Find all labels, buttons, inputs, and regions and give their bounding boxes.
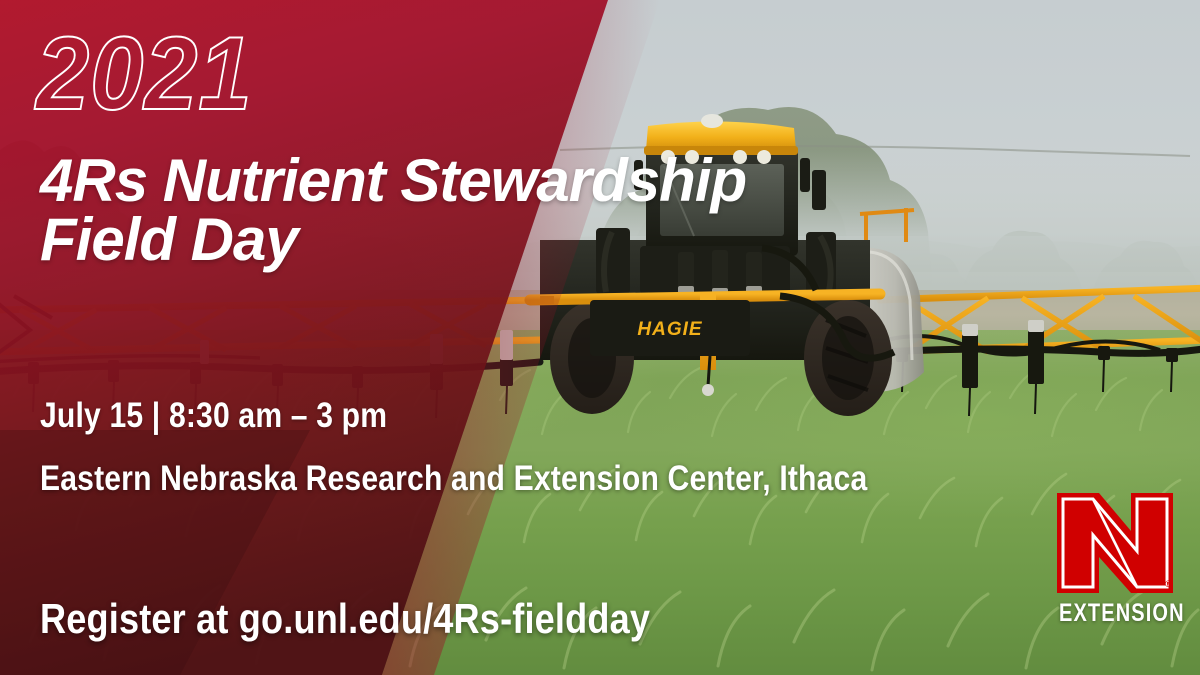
event-location: Eastern Nebraska Research and Extension … [40,459,867,499]
nebraska-n-icon [1053,487,1177,599]
registered-trademark-icon: ® [1165,579,1172,589]
page-title: 4Rs Nutrient Stewardship Field Day [40,152,1180,270]
registration-call-to-action[interactable]: Register at go.unl.edu/4Rs-fieldday [40,595,650,643]
year-heading: 2021 [36,22,253,126]
event-datetime: July 15 | 8:30 am – 3 pm [40,396,387,436]
extension-wordmark: EXTENSION [1059,599,1171,628]
field-day-promo-poster: HAGIE [0,0,1200,675]
nebraska-extension-logo: ® EXTENSION [1045,487,1185,647]
